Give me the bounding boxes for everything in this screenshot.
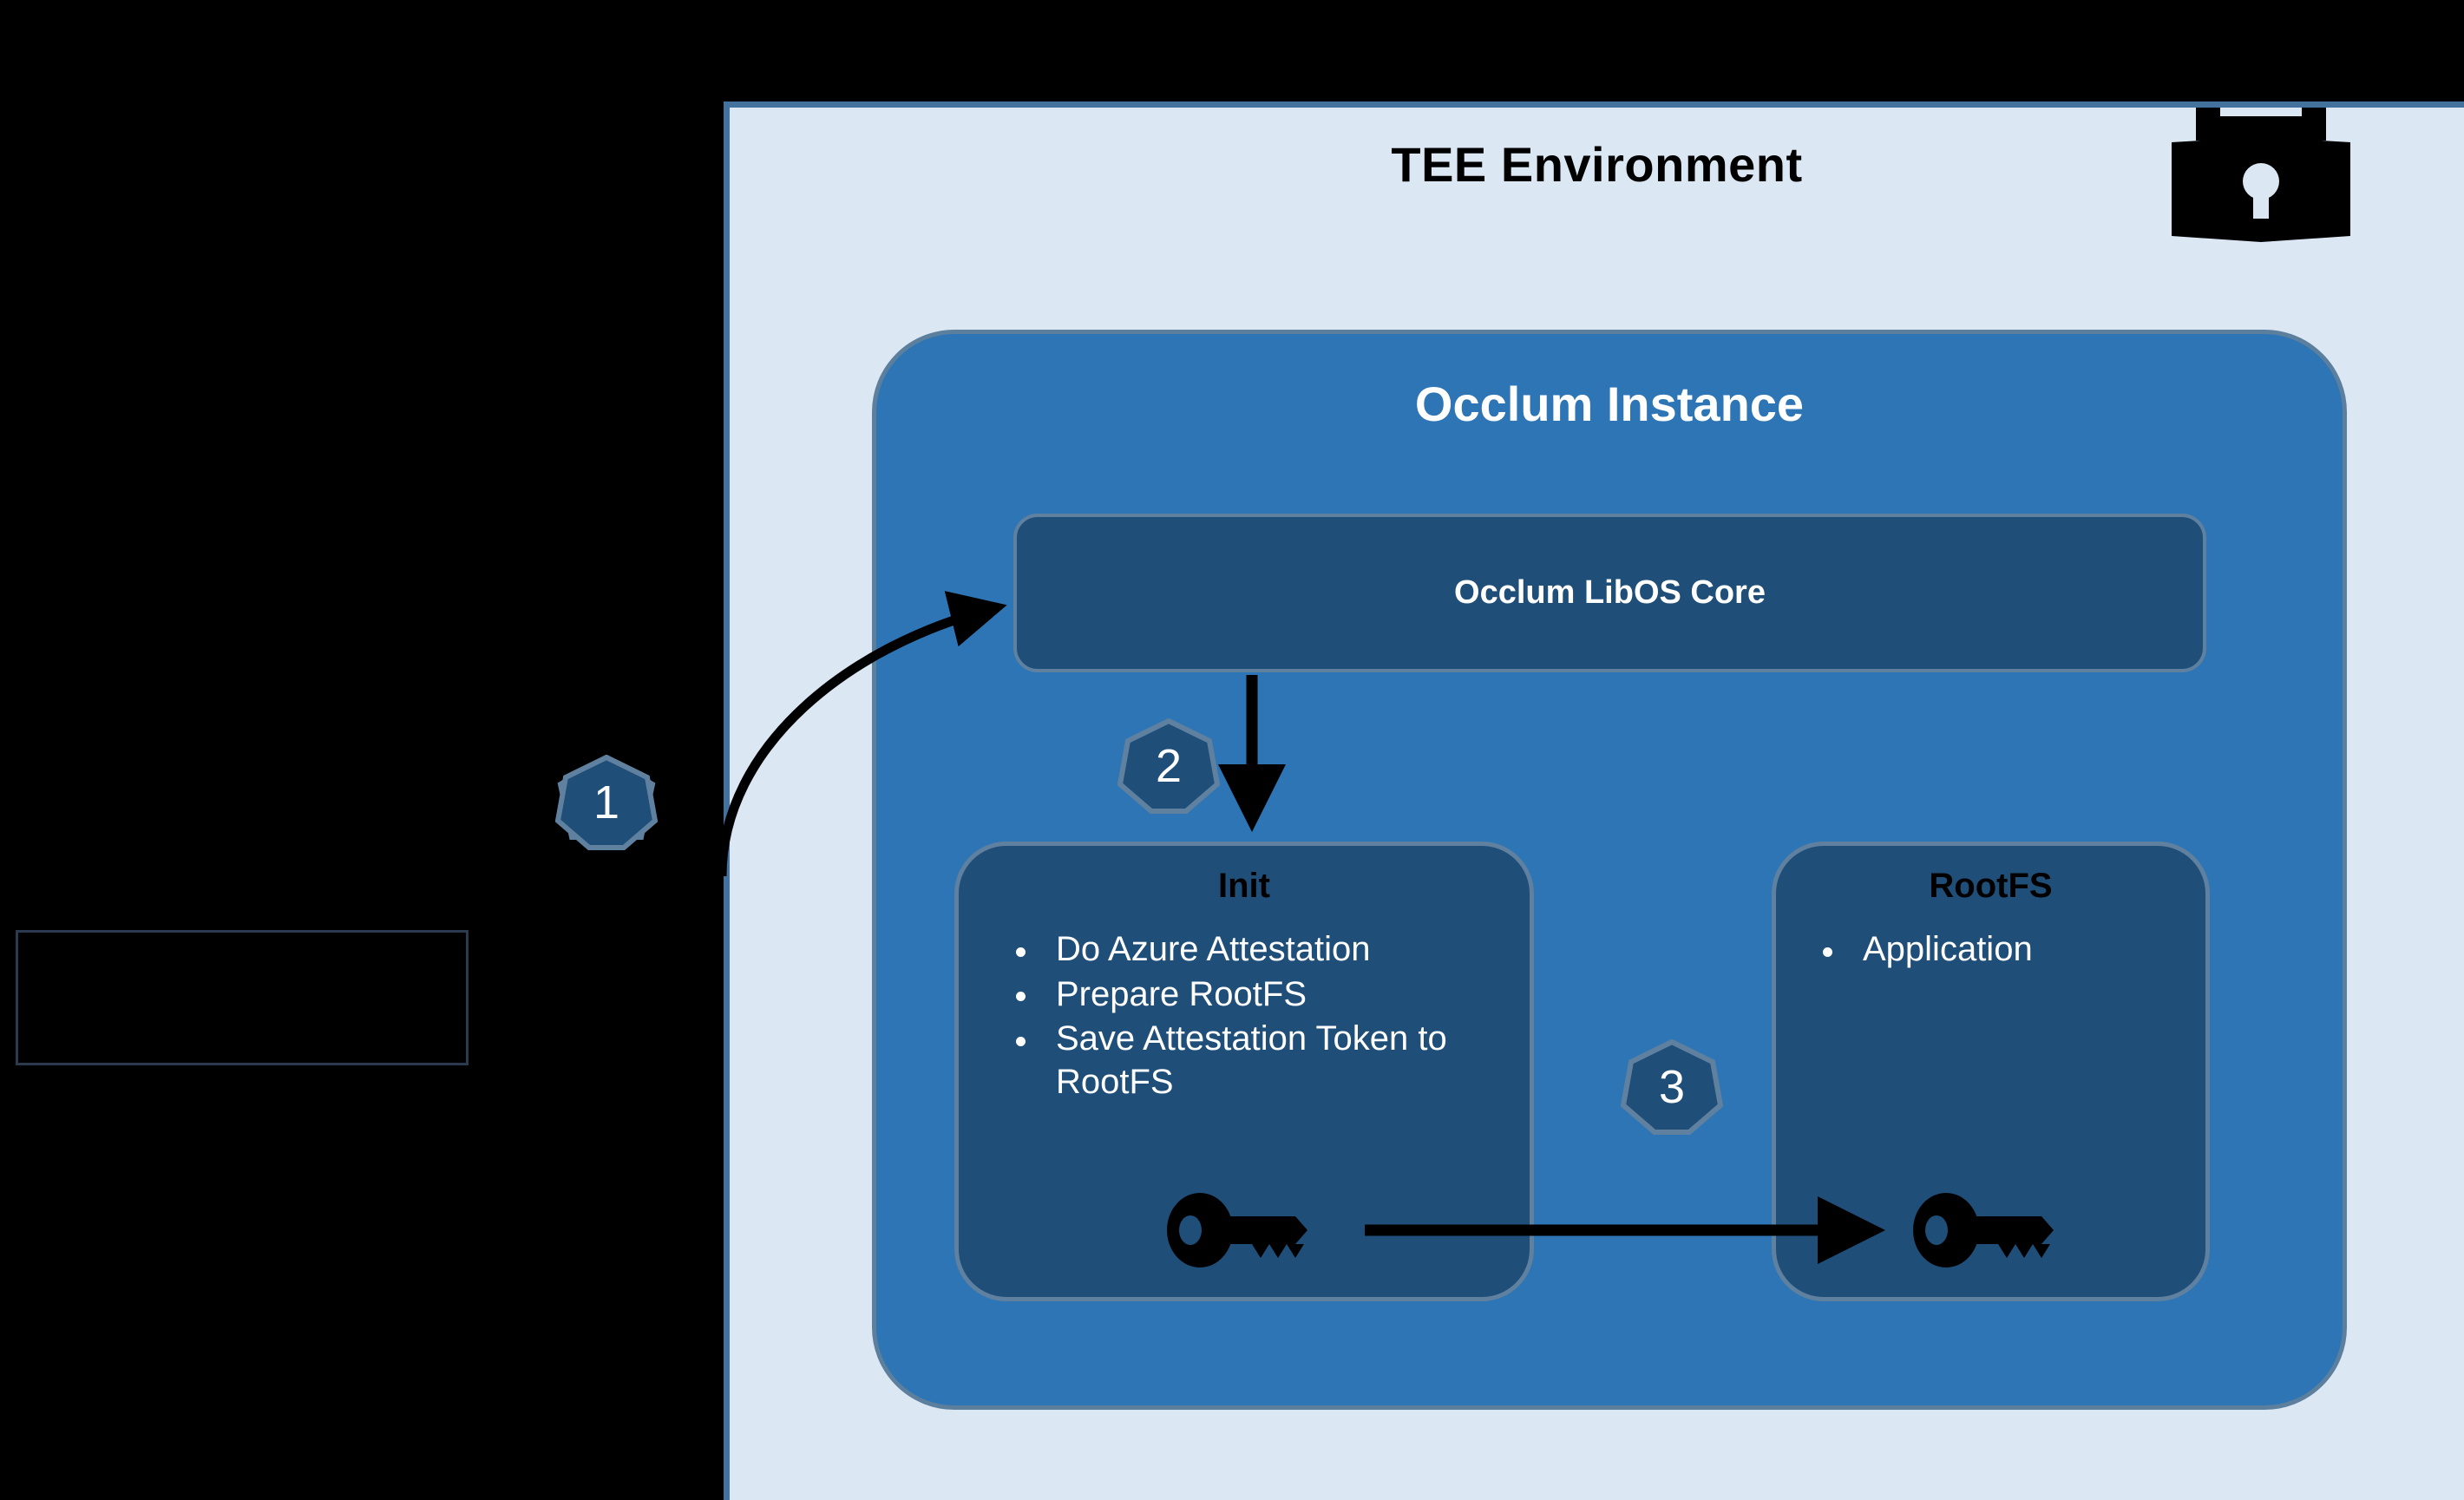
occlum-libos-core-title: Occlum LibOS Core [1017,517,2203,669]
list-item: Prepare RootFS [1000,973,1521,1017]
rootfs-title: RootFS [1776,867,2205,906]
placeholder-box [16,930,469,1065]
init-title: Init [959,867,1530,906]
init-bullet-text: Do Azure Attestation [1056,930,1370,968]
rootfs-bullet-list: Application [1807,928,2189,972]
list-item: Application [1807,928,2189,972]
list-item: Do Azure Attestation [1000,928,1521,972]
key-icon [1913,1193,2061,1267]
step-badge-2-label: 2 [1117,718,1220,814]
step-badge-3-label: 3 [1621,1039,1723,1135]
init-bullet-text: Prepare RootFS [1056,975,1307,1013]
list-item: Save Attestation Token to RootFS [1000,1018,1521,1104]
lock-icon [2161,102,2361,252]
diagram-canvas: TEE Environment Occlum Instance Occlum L… [0,0,2464,1500]
occlum-libos-core-box: Occlum LibOS Core [1013,514,2206,672]
rootfs-bullet-text: Application [1863,930,2033,968]
init-bullet-text: Save Attestation Token to RootFS [1056,1019,1447,1101]
bullet-dot-icon [1823,947,1832,957]
step-badge-1-label: 1 [555,755,658,850]
occlum-instance-title: Occlum Instance [876,376,2343,432]
bullet-dot-icon [1016,947,1026,957]
step-badge-3: 3 [1621,1039,1723,1135]
step-badge-2: 2 [1117,718,1220,814]
key-icon [1167,1193,1314,1267]
step-badge-1: 1 [555,755,658,850]
init-bullet-list: Do Azure Attestation Prepare RootFS Save… [1000,928,1521,1105]
bullet-dot-icon [1016,992,1026,1001]
bullet-dot-icon [1016,1037,1026,1046]
